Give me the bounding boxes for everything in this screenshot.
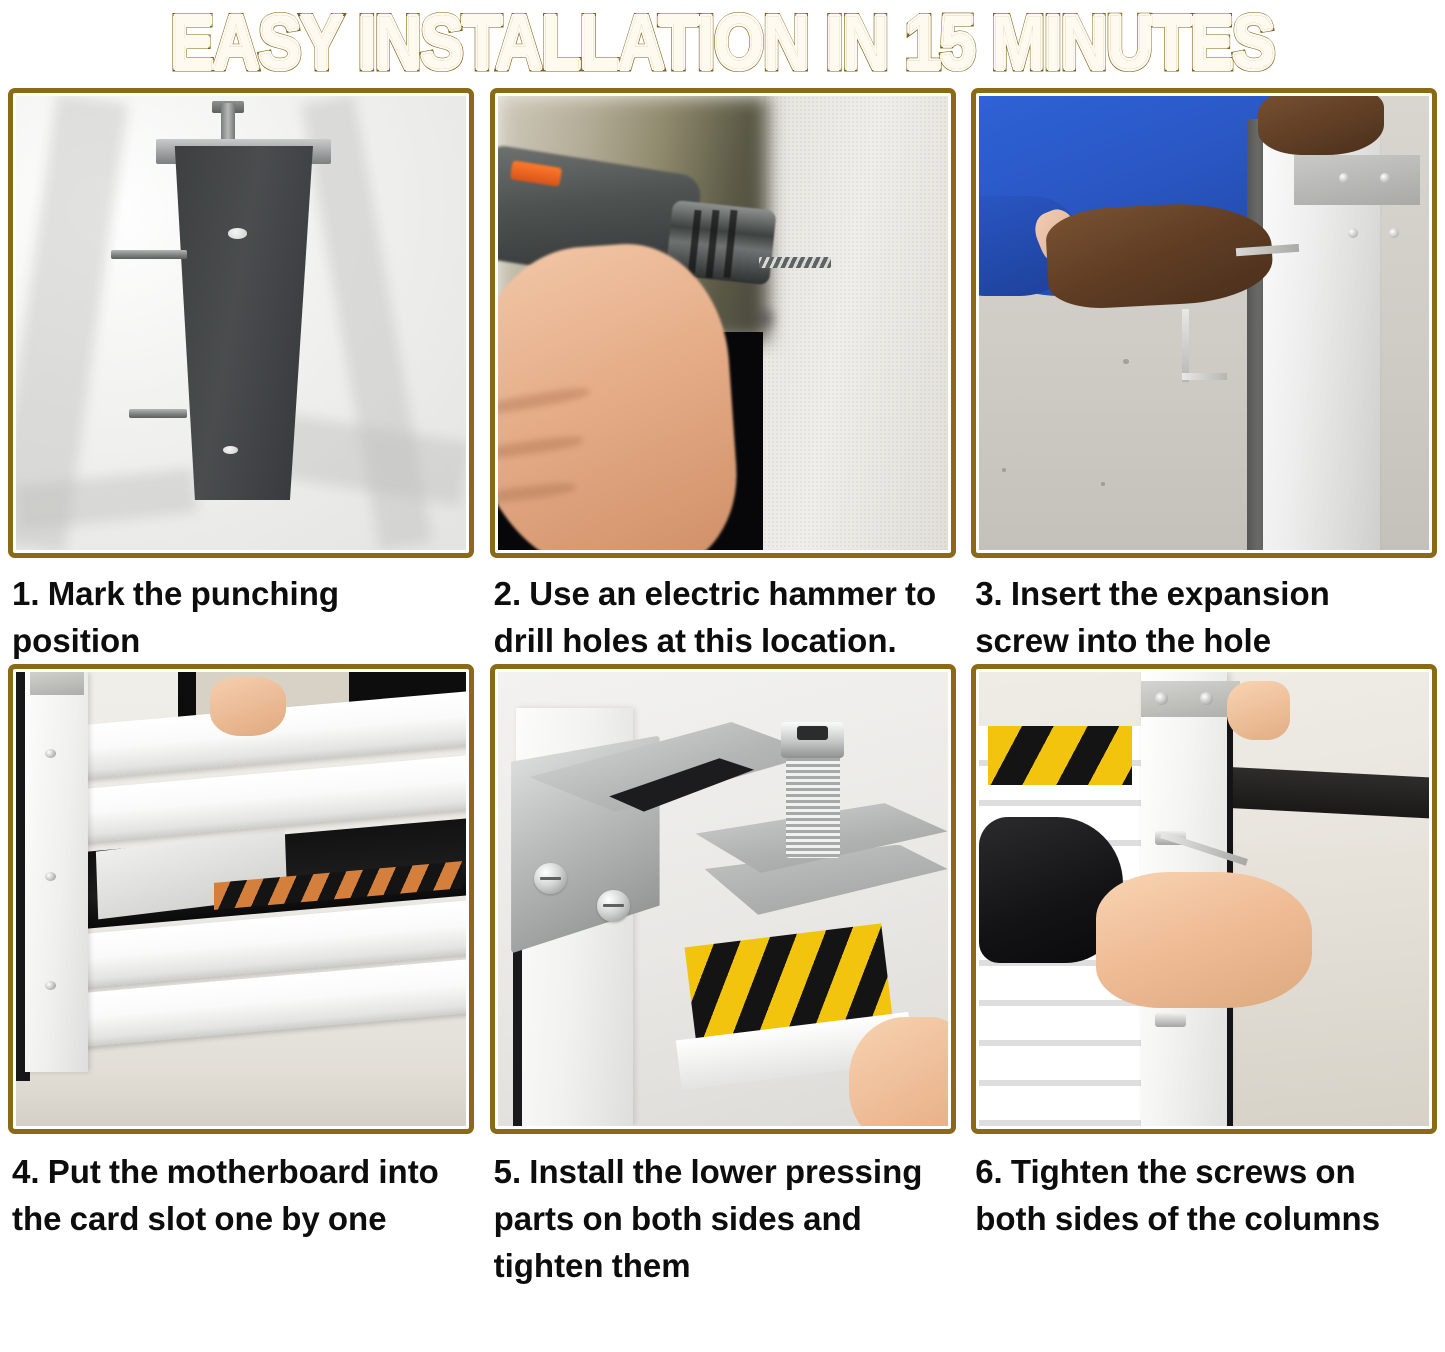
floor-speck — [1123, 359, 1128, 364]
photo-install-pressing-parts — [490, 664, 956, 1134]
floor-speck — [1101, 482, 1106, 486]
column-bolt — [1155, 1013, 1187, 1028]
photo-tighten-column-screws-image — [979, 672, 1429, 1126]
photo-insert-expansion-screw — [971, 88, 1437, 558]
column-top-plate — [30, 672, 84, 695]
column-screw — [1348, 228, 1358, 238]
step-caption-2: 2. Use an electric hammer to drill holes… — [490, 558, 950, 664]
finger-crease — [498, 481, 576, 506]
left-column — [25, 672, 88, 1072]
photo-insert-boards-card-slot-image — [16, 672, 466, 1126]
photo-mark-punching-position — [8, 88, 474, 558]
step-cell-1: 1. Mark the punching position — [0, 88, 482, 664]
column-screw — [45, 981, 56, 990]
hand-upper — [1227, 681, 1290, 740]
bracket-screw — [597, 890, 631, 922]
column-screw — [1380, 173, 1390, 183]
column-screw — [1389, 228, 1399, 238]
hex-bolt-socket — [797, 726, 829, 740]
photo-install-pressing-parts-image — [498, 672, 948, 1126]
allen-key-shaft — [1182, 309, 1189, 382]
threaded-stud — [221, 103, 235, 144]
photo-drill-holes-image — [498, 96, 948, 550]
column-top-plate — [1294, 155, 1420, 205]
upper-hand — [1258, 96, 1384, 155]
photo-mark-punching-position-image — [16, 96, 466, 550]
step-caption-5: 5. Install the lower pressing parts on b… — [490, 1134, 950, 1289]
mounting-hole — [223, 446, 238, 454]
header-banner: EASY INSTALLATION IN 15 MINUTES EASY INS… — [0, 0, 1445, 88]
steps-row-bottom: 4. Put the motherboard into the card slo… — [0, 664, 1445, 1289]
mounting-bolt — [129, 409, 188, 418]
step-cell-2: 2. Use an electric hammer to drill holes… — [482, 88, 964, 664]
installation-steps-grid: 1. Mark the punching position — [0, 88, 1445, 1289]
finger-crease — [498, 385, 591, 418]
steps-row-top: 1. Mark the punching position — [0, 88, 1445, 664]
mounting-hole — [228, 228, 248, 239]
hand — [210, 677, 287, 736]
wall-surface — [763, 96, 948, 550]
step-cell-3: 3. Insert the expansion screw into the h… — [963, 88, 1445, 664]
finger-crease — [498, 433, 583, 461]
allen-key-arm — [1182, 373, 1227, 380]
step-caption-4: 4. Put the motherboard into the card slo… — [8, 1134, 468, 1242]
floor-surface — [16, 1067, 466, 1126]
photo-insert-boards-card-slot — [8, 664, 474, 1134]
drill-bit — [759, 257, 831, 268]
photo-insert-expansion-screw-image — [979, 96, 1429, 550]
step-cell-5: 5. Install the lower pressing parts on b… — [482, 664, 964, 1289]
column-screw — [45, 872, 56, 881]
step-cell-6: 6. Tighten the screws on both sides of t… — [963, 664, 1445, 1289]
page-title: EASY INSTALLATION IN 15 MINUTES — [171, 6, 1274, 82]
step-caption-3: 3. Insert the expansion screw into the h… — [971, 558, 1431, 664]
drill-dust — [750, 305, 782, 332]
column-post — [169, 146, 313, 500]
hand — [1096, 872, 1312, 1008]
mounting-bolt — [111, 250, 188, 259]
step-caption-6: 6. Tighten the screws on both sides of t… — [971, 1134, 1431, 1242]
page-title-wrap: EASY INSTALLATION IN 15 MINUTES EASY INS… — [192, 13, 1253, 75]
step-caption-1: 1. Mark the punching position — [8, 558, 468, 664]
photo-drill-holes — [490, 88, 956, 558]
floor-speck — [1002, 468, 1007, 472]
photo-tighten-column-screws — [971, 664, 1437, 1134]
hazard-stripe-band — [988, 726, 1132, 785]
step-cell-4: 4. Put the motherboard into the card slo… — [0, 664, 482, 1289]
